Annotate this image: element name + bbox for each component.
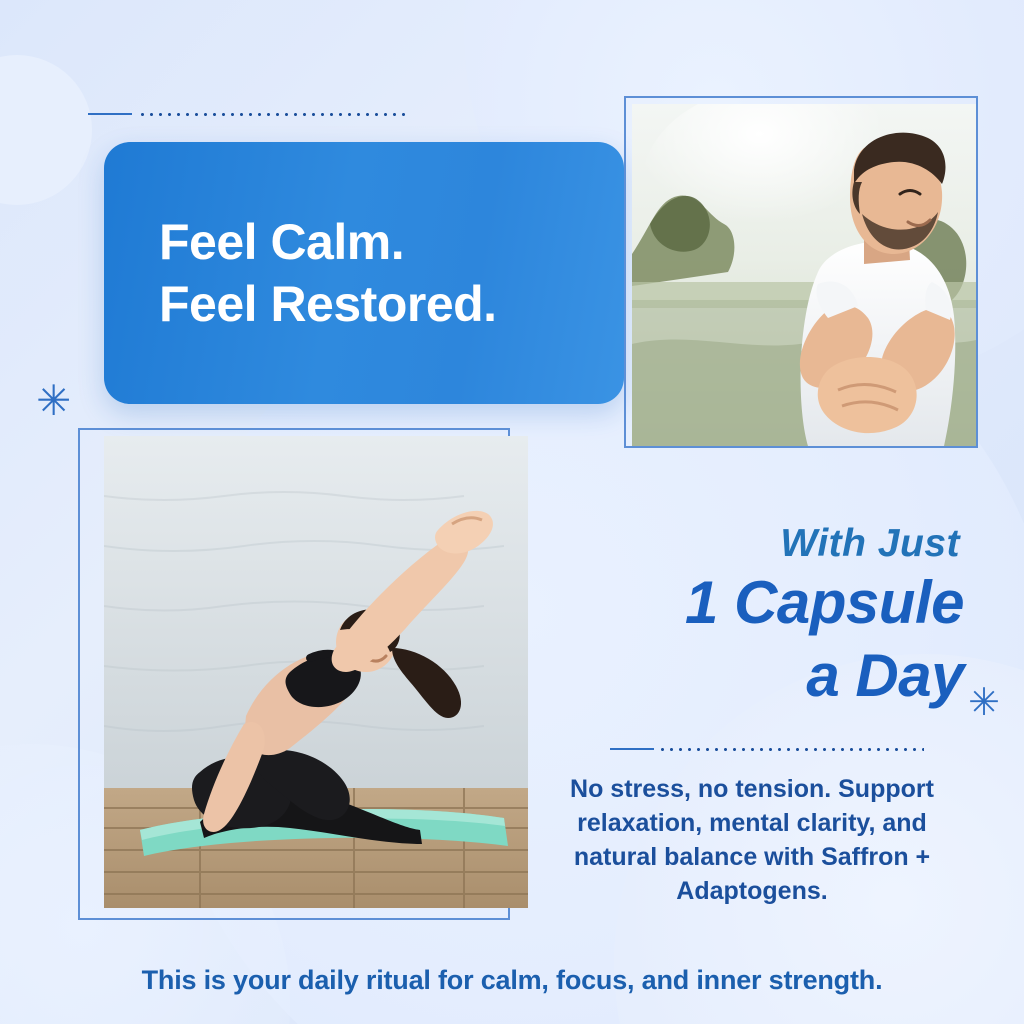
photo-woman-yoga (104, 436, 528, 908)
promo-period: a Day (806, 641, 964, 710)
headline-line-1: Feel Calm. (159, 211, 624, 274)
divider-solid-top (88, 113, 132, 115)
sparkle-icon-left: ✳ (36, 380, 71, 422)
background-blob-left (0, 55, 92, 205)
promo-graphic: ✳ ✳ Feel Calm. Feel Restored. (0, 0, 1024, 1024)
sparkle-icon-right: ✳ (968, 683, 1000, 721)
promo-amount: 1 Capsule (685, 568, 964, 637)
photo-man-illustration (632, 104, 976, 446)
promo-eyebrow: With Just (780, 522, 960, 566)
divider-solid-middle (610, 748, 654, 750)
photo-man-stretching (632, 104, 976, 446)
divider-dotted-middle (658, 748, 924, 751)
headline-card: Feel Calm. Feel Restored. (104, 142, 624, 404)
headline-line-2: Feel Restored. (159, 273, 624, 336)
footer-tagline: This is your daily ritual for calm, focu… (0, 965, 1024, 996)
divider-dotted-top (138, 113, 406, 116)
photo-woman-illustration (104, 436, 528, 908)
promo-body-copy: No stress, no tension. Support relaxatio… (542, 772, 962, 908)
